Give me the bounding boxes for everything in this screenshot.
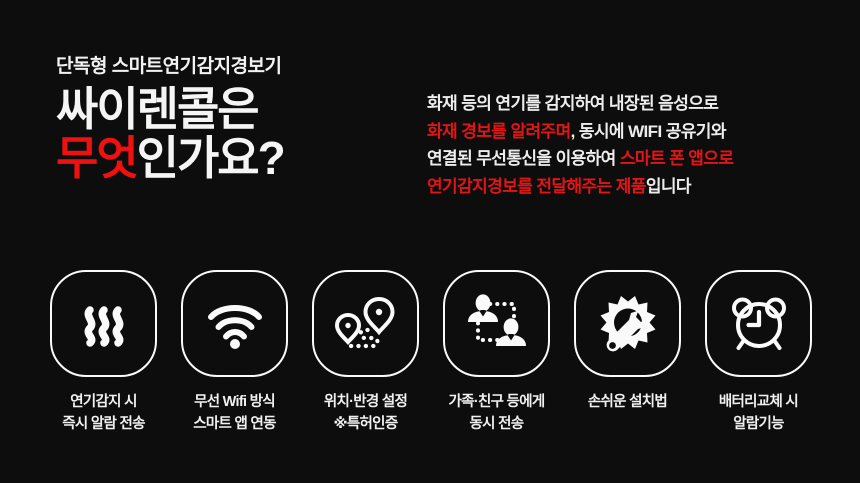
people-network-icon [466,294,528,354]
paragraph-segment: 입니다 [646,177,691,196]
feature-caption: 무선 Wifi 방식 스마트 앱 연동 [193,392,276,436]
paragraph-segment: 화재 등의 연기를 감지하여 내장된 음성으로 [427,94,718,113]
paragraph-segment: 연결된 무선통신을 이용하여 [427,149,620,168]
paragraph-line: 연결된 무선통신을 이용하여 스마트 폰 앱으로 [427,145,827,173]
feature-item-battery-alarm: 배터리교체 시 알람기능 [705,270,812,436]
gear-wrench-icon [598,294,658,354]
caption-line: ※특허인증 [324,414,407,436]
feature-badge [574,270,681,377]
feature-badge [181,270,288,377]
feature-caption: 배터리교체 시 알람기능 [719,392,798,436]
caption-line: 스마트 앱 연동 [193,414,276,436]
paragraph-line: 화재 등의 연기를 감지하여 내장된 음성으로 [427,90,827,118]
feature-badge [443,270,550,377]
feature-badge [50,270,157,377]
feature-caption: 연기감지 시 즉시 알람 전송 [62,392,145,436]
description-paragraph: 화재 등의 연기를 감지하여 내장된 음성으로 화재 경보를 알려주며, 동시에… [427,90,827,200]
caption-line: 위치·반경 설정 [324,392,407,414]
promo-banner: 단독형 스마트연기감지경보기 싸이렌콜은 무엇인가요? 화재 등의 연기를 감지… [0,0,860,483]
caption-line: 무선 Wifi 방식 [193,392,276,414]
paragraph-segment-highlight: 스마트 폰 앱으로 [620,149,734,168]
feature-item-smoke-detection: 연기감지 시 즉시 알람 전송 [50,270,157,436]
paragraph-line: 연기감지경보를 전달해주는 제품입니다 [427,173,827,201]
headline-rest: 인가요? [137,132,284,184]
map-pins-route-icon [335,294,397,354]
feature-caption: 위치·반경 설정 ※특허인증 [324,392,407,436]
feature-item-wifi: 무선 Wifi 방식 스마트 앱 연동 [181,270,288,436]
caption-line: 동시 전송 [449,414,545,436]
feature-item-location: 위치·반경 설정 ※특허인증 [312,270,419,436]
caption-line: 손쉬운 설치법 [588,392,667,414]
paragraph-segment-highlight: 화재 경보를 알려주며 [427,122,571,141]
caption-line: 가족·친구 등에게 [449,392,545,414]
feature-badge [705,270,812,377]
headline-block: 단독형 스마트연기감지경보기 싸이렌콜은 무엇인가요? [56,55,436,182]
feature-caption: 가족·친구 등에게 동시 전송 [449,392,545,436]
caption-line: 배터리교체 시 [719,392,798,414]
feature-item-easy-install: 손쉬운 설치법 [574,270,681,436]
caption-line: 연기감지 시 [62,392,145,414]
alarm-clock-icon [728,294,790,354]
paragraph-segment: , 동시에 WIFI 공유기와 [571,122,726,141]
caption-line: 즉시 알람 전송 [62,414,145,436]
headline-line-1: 싸이렌콜은 [56,85,436,134]
feature-item-group-broadcast: 가족·친구 등에게 동시 전송 [443,270,550,436]
headline-highlight: 무엇 [56,132,137,184]
caption-line: 알람기능 [719,414,798,436]
paragraph-line: 화재 경보를 알려주며, 동시에 WIFI 공유기와 [427,118,827,146]
smoke-waves-icon [75,295,133,353]
feature-badge [312,270,419,377]
paragraph-segment-highlight: 연기감지경보를 전달해주는 제품 [427,177,646,196]
feature-caption: 손쉬운 설치법 [588,392,667,414]
feature-list: 연기감지 시 즉시 알람 전송 [50,270,812,436]
wifi-icon [205,295,265,353]
eyebrow-text: 단독형 스마트연기감지경보기 [56,55,436,79]
headline-line-2: 무엇인가요? [56,134,436,183]
